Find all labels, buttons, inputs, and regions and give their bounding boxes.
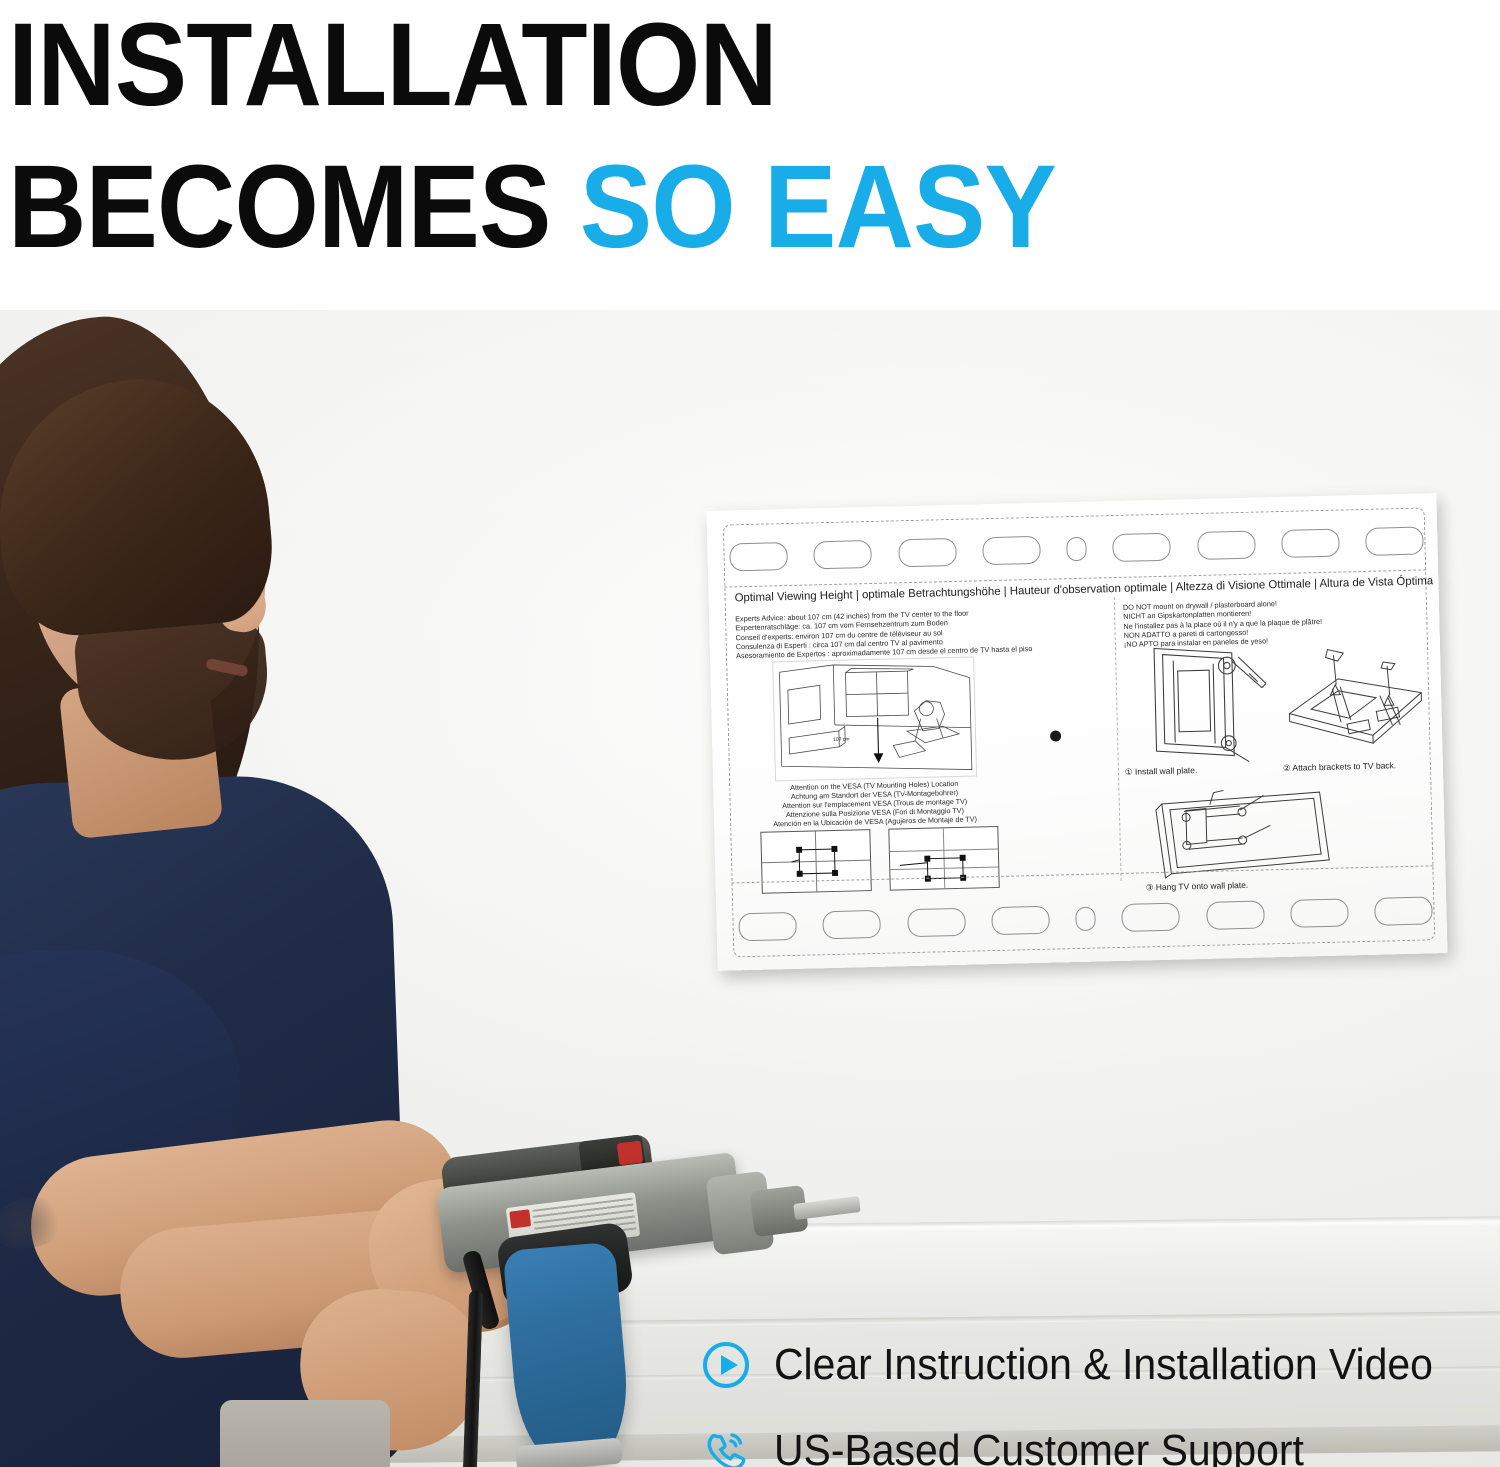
template-hole: [1197, 531, 1256, 560]
room-measure-label: 107 cm: [833, 737, 850, 743]
headline-line-2-accent: SO EASY: [580, 141, 1056, 273]
drill-brand-mark: [509, 1209, 531, 1228]
feature-label-support: US-Based Customer Support: [774, 1426, 1304, 1467]
template-hole: [814, 540, 873, 569]
vesa-caption-block: Attention on the VESA (TV Mounting Holes…: [729, 777, 1020, 829]
feature-item-support: US-Based Customer Support: [700, 1408, 1490, 1467]
template-hole: [1281, 529, 1340, 558]
phone-ring-icon: [700, 1425, 752, 1467]
template-hole: [738, 912, 797, 941]
vesa-grid-right-svg: [889, 827, 998, 890]
feature-list: Clear Instruction & Installation Video U…: [700, 1322, 1490, 1467]
headline-line-2-dark: BECOMES: [8, 141, 550, 273]
drill-base: [515, 1437, 623, 1467]
template-hole: [898, 538, 957, 567]
template-sheet: Optimal Viewing Height | optimale Betrac…: [706, 493, 1447, 971]
vesa-grid-diagrams: [760, 826, 999, 894]
template-hole: [1206, 900, 1265, 929]
template-hole: [1112, 533, 1171, 562]
mounting-template-paper: Optimal Viewing Height | optimale Betrac…: [706, 493, 1447, 971]
feature-label-video: Clear Instruction & Installation Video: [774, 1340, 1433, 1390]
template-hole: [907, 908, 966, 937]
step-2-brackets-image: [1280, 633, 1431, 767]
template-hole: [1374, 896, 1433, 925]
template-hole-small: [1075, 907, 1096, 931]
installation-photo: (Including Mountintg Template) Optim: [0, 310, 1500, 1467]
template-hole: [823, 910, 882, 939]
vesa-grid-left: [760, 829, 871, 894]
step-images-row: [1122, 633, 1431, 770]
headline-band: INSTALLATION BECOMES SO EASY: [0, 0, 1500, 310]
headline-line-1: INSTALLATION: [8, 6, 777, 124]
hang-tv-svg: [1143, 784, 1335, 881]
headline-line-2: BECOMES SO EASY: [8, 148, 1056, 266]
template-hole: [1365, 526, 1424, 555]
feature-item-video: Clear Instruction & Installation Video: [700, 1322, 1490, 1408]
step-3-hang-tv-image: [1143, 784, 1335, 881]
wall-plate-svg: [1122, 637, 1273, 771]
trousers: [220, 1400, 390, 1467]
template-hole: [991, 906, 1050, 935]
drill-handle: [503, 1242, 634, 1467]
template-advice-block: Experts Advice: about 107 cm (42 inches)…: [735, 606, 1066, 661]
drill-switch-red-indicator: [617, 1141, 644, 1166]
vesa-grid-right: [888, 826, 999, 891]
product-infographic: INSTALLATION BECOMES SO EASY: [0, 0, 1500, 1467]
vesa-grid-left-svg: [761, 830, 870, 893]
template-hole: [729, 542, 788, 571]
template-hole: [1290, 898, 1349, 927]
template-hole: [982, 536, 1041, 565]
template-hole-small: [1066, 537, 1087, 561]
play-circle-icon: [700, 1339, 752, 1391]
room-sketch-svg: 107 cm: [773, 658, 976, 781]
template-hole: [1121, 903, 1180, 932]
step-1-wall-plate-image: [1122, 637, 1273, 771]
tv-back-brackets-svg: [1280, 633, 1431, 767]
power-cord: [447, 1290, 483, 1467]
viewing-height-diagram: 107 cm: [772, 656, 977, 781]
